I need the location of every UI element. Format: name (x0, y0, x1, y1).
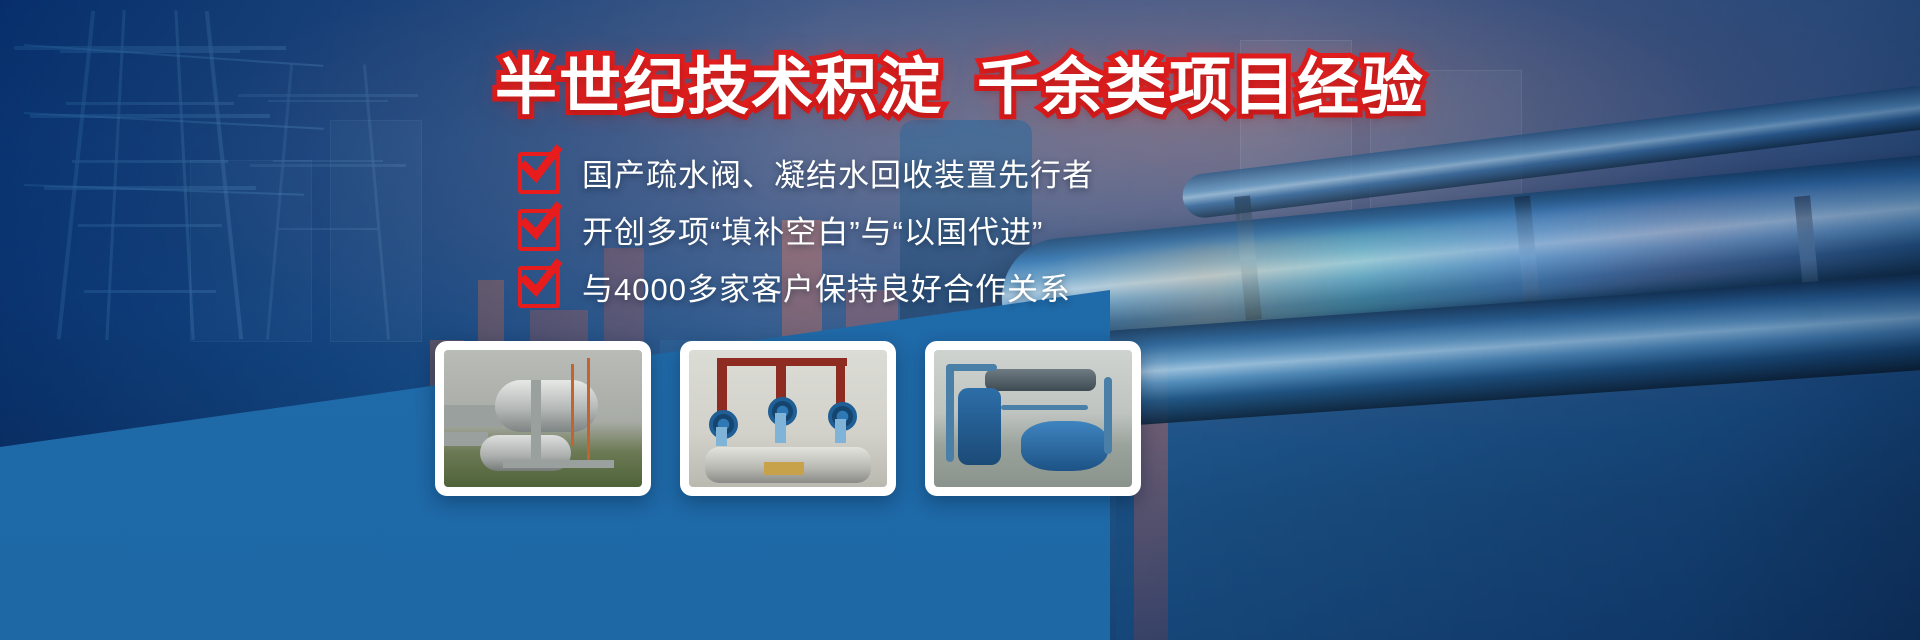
checkbox-checked-icon (518, 266, 560, 308)
list-item: 与4000多家客户保持良好合作关系 (518, 264, 1094, 309)
product-photo-2 (689, 350, 887, 487)
product-gallery (435, 341, 1141, 496)
checkbox-checked-icon (518, 209, 560, 251)
gallery-card[interactable] (435, 341, 651, 496)
checkbox-checked-icon (518, 152, 560, 194)
product-photo-1 (444, 350, 642, 487)
product-photo-3 (934, 350, 1132, 487)
gallery-card[interactable] (925, 341, 1141, 496)
feature-text: 国产疏水阀、凝结水回收装置先行者 (582, 150, 1094, 195)
headline-part-2: 千余类项目经验 (977, 53, 1425, 122)
banner-content: 半世纪技术积淀千余类项目经验 国产疏水阀、凝结水回收装置先行者 开创多项“填补空… (0, 0, 1920, 640)
page-title: 半世纪技术积淀千余类项目经验 (0, 36, 1920, 126)
headline-part-1: 半世纪技术积淀 (495, 53, 943, 122)
list-item: 国产疏水阀、凝结水回收装置先行者 (518, 150, 1094, 195)
feature-text: 开创多项“填补空白”与“以国代进” (582, 207, 1043, 252)
feature-text: 与4000多家客户保持良好合作关系 (582, 264, 1071, 309)
gallery-card[interactable] (680, 341, 896, 496)
list-item: 开创多项“填补空白”与“以国代进” (518, 207, 1094, 252)
feature-list: 国产疏水阀、凝结水回收装置先行者 开创多项“填补空白”与“以国代进” 与4000… (518, 150, 1094, 309)
promo-banner: 半世纪技术积淀千余类项目经验 国产疏水阀、凝结水回收装置先行者 开创多项“填补空… (0, 0, 1920, 640)
